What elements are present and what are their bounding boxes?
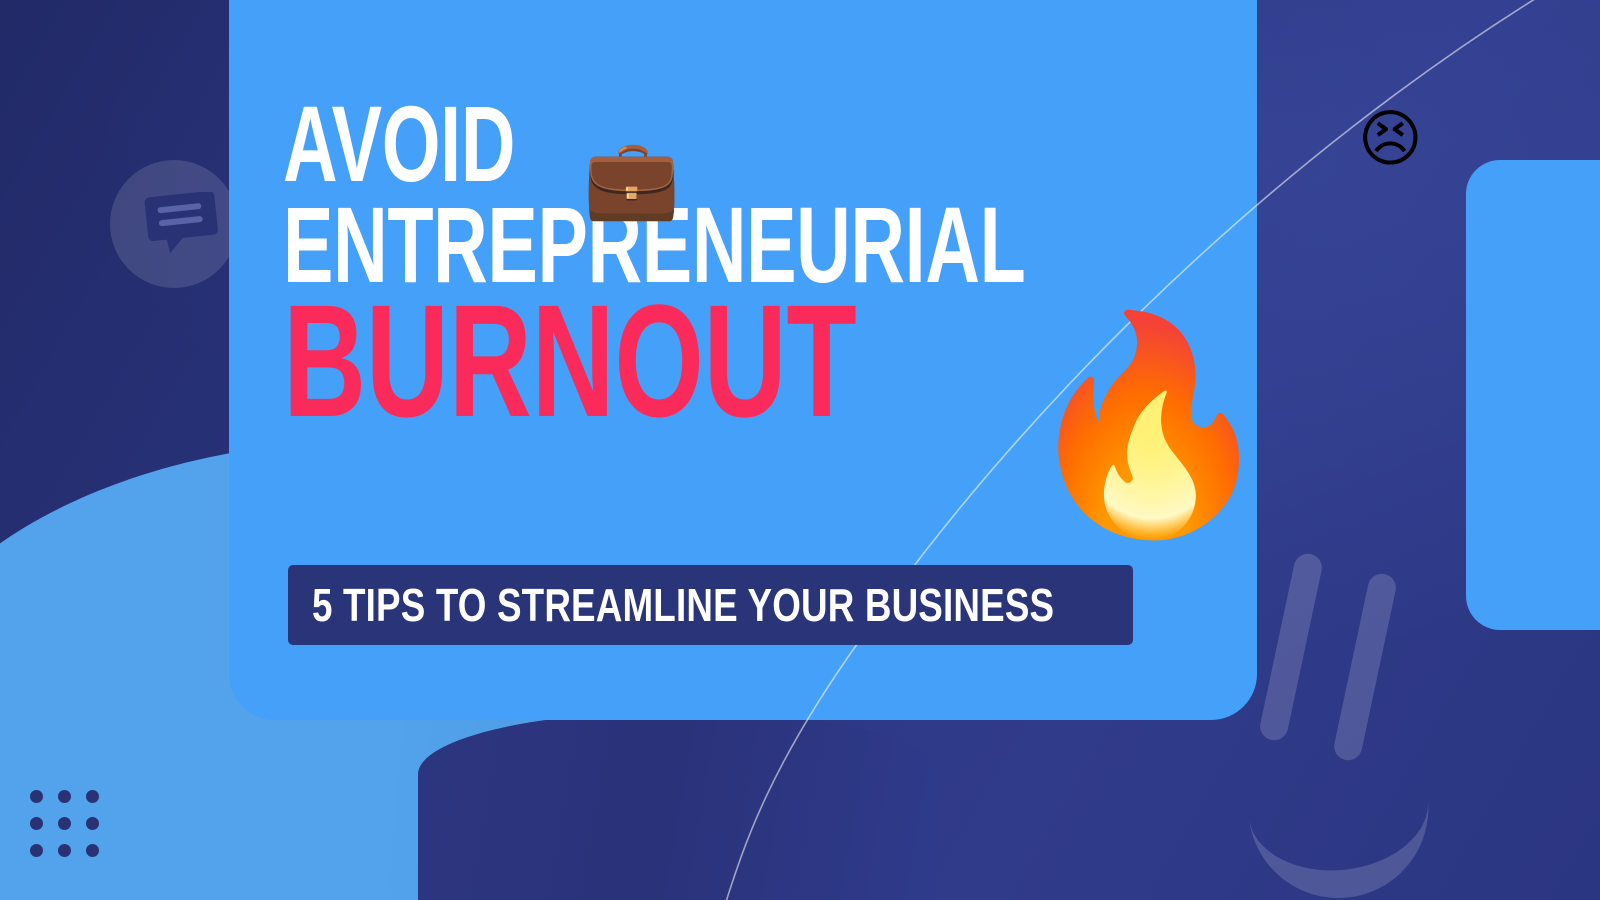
bulge-shape-bottom: [418, 712, 938, 900]
briefcase-icon: 💼: [583, 140, 680, 218]
smile-bar-left: [1258, 551, 1325, 743]
grid-dot: [58, 844, 71, 857]
headline-word-burnout: BURNOUT: [283, 294, 856, 428]
grid-dot: [58, 817, 71, 830]
rounded-blue-panel-right: [1466, 160, 1600, 630]
grid-dot: [86, 790, 99, 803]
grid-dot: [86, 844, 99, 857]
grid-dot: [58, 790, 71, 803]
headline-word-avoid: AVOID: [283, 96, 515, 191]
subtitle-banner: 5 TIPS TO STREAMLINE YOUR BUSINESS: [288, 565, 1133, 645]
smile-motif-decoration: [1255, 540, 1485, 870]
dot-grid-decoration: [30, 790, 114, 871]
grid-dot: [30, 790, 43, 803]
grid-dot: [30, 844, 43, 857]
headline-line-1: AVOID: [283, 96, 1183, 191]
grid-dot: [30, 817, 43, 830]
chat-bubble-icon: [143, 192, 221, 254]
poster-canvas: AVOID ENTREPRENEURIAL BURNOUT 💼 🔥 😣 5 TI…: [0, 0, 1600, 900]
fire-icon: 🔥: [1018, 320, 1279, 530]
persevering-face-icon: 😣: [1358, 108, 1423, 170]
grid-dot: [86, 817, 99, 830]
subtitle-text: 5 TIPS TO STREAMLINE YOUR BUSINESS: [312, 582, 1054, 628]
